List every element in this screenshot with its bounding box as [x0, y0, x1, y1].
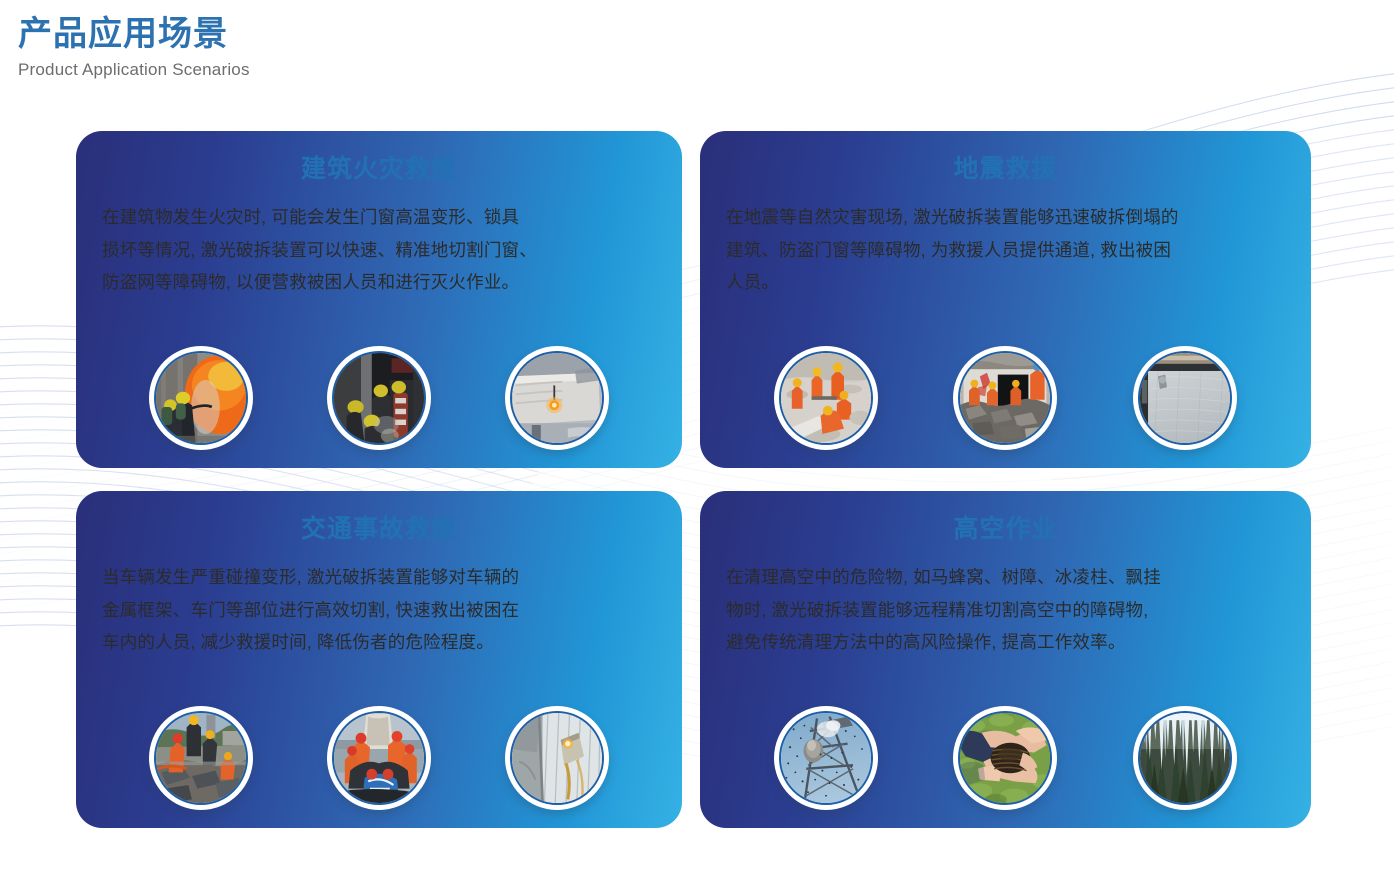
photo-frame: [958, 351, 1052, 445]
wreckage-rescue-operation-photo[interactable]: [149, 706, 253, 810]
photo-frame: [154, 711, 248, 805]
page-subtitle: Product Application Scenarios: [18, 60, 250, 80]
photo-frame: [510, 711, 604, 805]
icicles-on-trees-photo[interactable]: [1133, 706, 1237, 810]
photo-frame: [332, 351, 426, 445]
page-header: 产品应用场景 Product Application Scenarios: [18, 14, 250, 80]
card-description-line: 车内的人员, 减少救援时间, 降低伤者的危险程度。: [102, 626, 656, 659]
photo-art: [156, 713, 246, 803]
photo-art: [334, 353, 424, 443]
card-photo-row: [702, 706, 1309, 810]
scenario-cards-grid: 建筑火灾救援 在建筑物发生火灾时, 可能会发生门窗高温变形、锁具 损坏等情况, …: [0, 0, 1394, 881]
card-description-line: 建筑、防盗门窗等障碍物, 为救援人员提供通道, 救出被困: [726, 234, 1285, 267]
vehicle-extrication-photo[interactable]: [327, 706, 431, 810]
card-description-line: 在清理高空中的危险物, 如马蜂窝、树障、冰凌柱、飘挂: [726, 561, 1285, 594]
photo-frame: [1138, 711, 1232, 805]
card-title: 高空作业: [702, 509, 1309, 545]
card-photo-row: [78, 706, 680, 810]
frosted-glass-door-photo[interactable]: [1133, 346, 1237, 450]
photo-art: [781, 713, 871, 803]
firefighters-battling-flames-photo[interactable]: [149, 346, 253, 450]
wasp-nest-on-pylon-photo[interactable]: [774, 706, 878, 810]
photo-frame: [958, 711, 1052, 805]
card-description-line: 当车辆发生严重碰撞变形, 激光破拆装置能够对车辆的: [102, 561, 656, 594]
card-photo-row: [78, 346, 680, 450]
photo-art: [1140, 353, 1230, 443]
scenario-card-building-fire-rescue[interactable]: 建筑火灾救援 在建筑物发生火灾时, 可能会发生门窗高温变形、锁具 损坏等情况, …: [76, 131, 682, 468]
scenario-card-high-altitude-operation[interactable]: 高空作业 在清理高空中的危险物, 如马蜂窝、树障、冰凌柱、飘挂 物时, 激光破拆…: [700, 491, 1311, 828]
laser-cutting-concrete-block-photo[interactable]: [505, 346, 609, 450]
photo-frame: [332, 711, 426, 805]
card-description-line: 人员。: [726, 266, 1285, 299]
photo-art: [781, 353, 871, 443]
card-description-line: 物时, 激光破拆装置能够远程精准切割高空中的障碍物,: [726, 594, 1285, 627]
photo-art: [1140, 713, 1230, 803]
rescuers-searching-rubble-photo[interactable]: [774, 346, 878, 450]
scenario-card-earthquake-rescue[interactable]: 地震救援 在地震等自然灾害现场, 激光破拆装置能够迅速破拆倒塌的 建筑、防盗门窗…: [700, 131, 1311, 468]
photo-frame: [779, 351, 873, 445]
card-photo-row: [702, 346, 1309, 450]
photo-art: [960, 713, 1050, 803]
card-title: 地震救援: [702, 149, 1309, 185]
page-title: 产品应用场景: [18, 14, 250, 54]
hands-holding-honeycomb-photo[interactable]: [953, 706, 1057, 810]
collapsed-building-rescue-photo[interactable]: [953, 346, 1057, 450]
card-title: 建筑火灾救援: [78, 149, 680, 185]
card-description: 在建筑物发生火灾时, 可能会发生门窗高温变形、锁具 损坏等情况, 激光破拆装置可…: [102, 201, 656, 299]
photo-art: [156, 353, 246, 443]
card-description: 在地震等自然灾害现场, 激光破拆装置能够迅速破拆倒塌的 建筑、防盗门窗等障碍物,…: [726, 201, 1285, 299]
card-description: 在清理高空中的危险物, 如马蜂窝、树障、冰凌柱、飘挂 物时, 激光破拆装置能够远…: [726, 561, 1285, 659]
card-title: 交通事故救援: [78, 509, 680, 545]
photo-frame: [510, 351, 604, 445]
card-description-line: 损坏等情况, 激光破拆装置可以快速、精准地切割门窗、: [102, 234, 656, 267]
photo-art: [334, 713, 424, 803]
photo-art: [512, 353, 602, 443]
card-description-line: 避免传统清理方法中的高风险操作, 提高工作效率。: [726, 626, 1285, 659]
laser-cutting-metal-photo[interactable]: [505, 706, 609, 810]
photo-frame: [1138, 351, 1232, 445]
card-description-line: 金属框架、车门等部位进行高效切割, 快速救出被困在: [102, 594, 656, 627]
photo-art: [512, 713, 602, 803]
card-description-line: 在地震等自然灾害现场, 激光破拆装置能够迅速破拆倒塌的: [726, 201, 1285, 234]
scenario-card-traffic-accident-rescue[interactable]: 交通事故救援 当车辆发生严重碰撞变形, 激光破拆装置能够对车辆的 金属框架、车门…: [76, 491, 682, 828]
card-description-line: 在建筑物发生火灾时, 可能会发生门窗高温变形、锁具: [102, 201, 656, 234]
firefighters-in-smoky-building-photo[interactable]: [327, 346, 431, 450]
photo-art: [960, 353, 1050, 443]
photo-frame: [779, 711, 873, 805]
card-description: 当车辆发生严重碰撞变形, 激光破拆装置能够对车辆的 金属框架、车门等部位进行高效…: [102, 561, 656, 659]
card-description-line: 防盗网等障碍物, 以便营救被困人员和进行灭火作业。: [102, 266, 656, 299]
photo-frame: [154, 351, 248, 445]
